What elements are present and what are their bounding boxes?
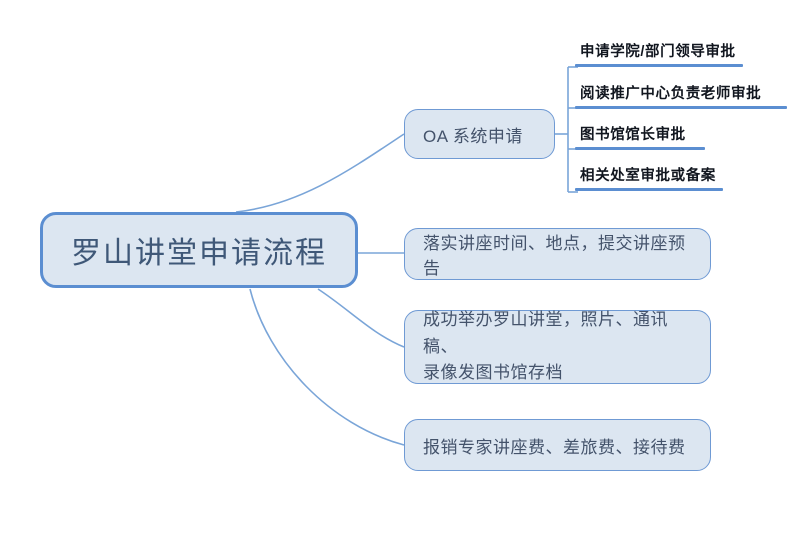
connector-root-to-branch-4 (250, 289, 404, 445)
mindmap-canvas: 罗山讲堂申请流程 OA 系统申请 落实讲座时间、地点，提交讲座预告 成功举办罗山… (0, 0, 794, 536)
leaf-item-underline (575, 64, 743, 67)
root-node-label: 罗山讲堂申请流程 (71, 228, 327, 272)
connector-root-to-branch-1 (236, 134, 404, 212)
leaf-item-library-director-approval[interactable]: 图书馆馆长审批 (575, 123, 705, 150)
leaf-item-label: 相关处室审批或备案 (575, 164, 723, 188)
leaf-item-department-approval[interactable]: 相关处室审批或备案 (575, 164, 723, 191)
leaf-item-underline (575, 106, 787, 109)
leaf-item-underline (575, 147, 705, 150)
branch-node-schedule[interactable]: 落实讲座时间、地点，提交讲座预告 (404, 228, 711, 280)
leaf-item-label: 图书馆馆长审批 (575, 123, 705, 147)
branch-node-label: 成功举办罗山讲堂，照片、通讯稿、 录像发图书馆存档 (423, 307, 696, 386)
branch-node-hold-event[interactable]: 成功举办罗山讲堂，照片、通讯稿、 录像发图书馆存档 (404, 310, 711, 384)
leaf-item-label: 申请学院/部门领导审批 (575, 40, 743, 64)
leaf-item-label: 阅读推广中心负责老师审批 (575, 82, 787, 106)
leaf-item-underline (575, 188, 723, 191)
branch-node-reimbursement[interactable]: 报销专家讲座费、差旅费、接待费 (404, 419, 711, 471)
leaf-item-college-approval[interactable]: 申请学院/部门领导审批 (575, 40, 743, 67)
connector-root-to-branch-3 (318, 289, 404, 347)
branch-node-oa-application[interactable]: OA 系统申请 (404, 109, 555, 159)
branch-node-label: 报销专家讲座费、差旅费、接待费 (423, 433, 686, 458)
leaf-item-reading-center-approval[interactable]: 阅读推广中心负责老师审批 (575, 82, 787, 109)
branch-node-label: OA 系统申请 (423, 122, 523, 147)
branch-node-label: 落实讲座时间、地点，提交讲座预告 (423, 229, 696, 279)
root-node[interactable]: 罗山讲堂申请流程 (40, 212, 358, 288)
